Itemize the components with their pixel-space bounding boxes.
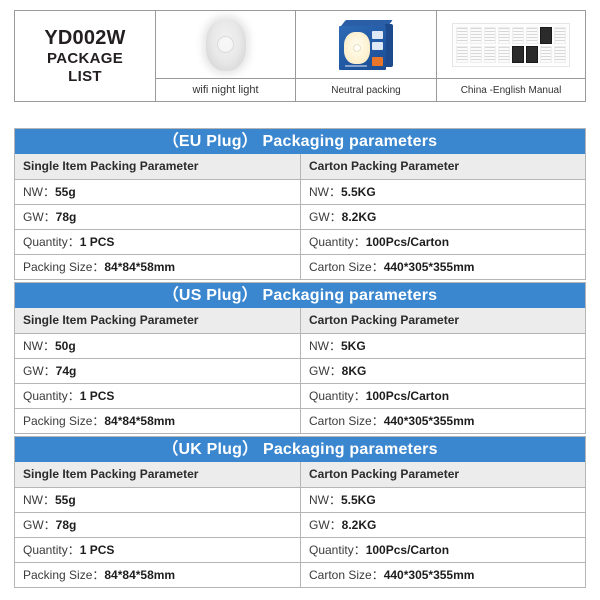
manual-panel: [470, 46, 482, 63]
value-quantity: 1 PCS: [80, 235, 115, 249]
cell-single-gw: GW：74g: [15, 359, 301, 383]
manual-panel: [456, 27, 468, 44]
night-light-ring-icon: [217, 36, 234, 53]
label-gw: GW：: [23, 364, 56, 378]
package-label-line2: LIST: [68, 68, 102, 86]
package-list-header-table: YD002W PACKAGE LIST wifi night light: [14, 10, 586, 102]
label-carton-size: Carton Size：: [309, 260, 384, 274]
cell-single-gw: GW：78g: [15, 205, 301, 229]
manual-panel: [456, 46, 468, 63]
table-row: Packing Size：84*84*58mm Carton Size：440*…: [15, 562, 585, 587]
retail-box-front-face: [339, 26, 386, 70]
value-carton-size: 440*305*355mm: [384, 260, 475, 274]
label-gw: GW：: [23, 518, 56, 532]
label-packing-size: Packing Size：: [23, 568, 104, 582]
cell-carton-size: Carton Size：440*305*355mm: [301, 409, 585, 433]
table-title-eu: （EU Plug） Packaging parameters: [15, 129, 585, 154]
manual-panel: [470, 27, 482, 44]
cell-single-gw: GW：78g: [15, 513, 301, 537]
table-row: NW：55g NW：5.5KG: [15, 179, 585, 204]
manual-device-thumb: [540, 27, 552, 44]
value-carton-quantity: 100Pcs/Carton: [366, 389, 449, 403]
package-list-title-cell: YD002W PACKAGE LIST: [15, 11, 155, 101]
manual-sheet-icon: [452, 23, 570, 67]
value-carton-gw: 8.2KG: [342, 518, 377, 532]
packaging-parameters-table-uk: （UK Plug） Packaging parameters Single It…: [14, 436, 586, 588]
package-item-neutral-packing: Neutral packing: [295, 11, 436, 101]
package-list-title-column: YD002W PACKAGE LIST: [15, 11, 155, 101]
label-nw: NW：: [23, 339, 55, 353]
retail-box-side-face: [385, 24, 393, 67]
cell-packing-size: Packing Size：84*84*58mm: [15, 409, 301, 433]
column-header-carton: Carton Packing Parameter: [301, 154, 585, 179]
value-nw: 55g: [55, 185, 76, 199]
cell-carton-quantity: Quantity：100Pcs/Carton: [301, 230, 585, 254]
table-row: GW：78g GW：8.2KG: [15, 204, 585, 229]
retail-box-text-line: [345, 65, 367, 67]
value-gw: 78g: [56, 210, 77, 224]
table-row: GW：74g GW：8KG: [15, 358, 585, 383]
table-row: Quantity：1 PCS Quantity：100Pcs/Carton: [15, 383, 585, 408]
cell-single-nw: NW：50g: [15, 334, 301, 358]
column-header-single-item: Single Item Packing Parameter: [15, 462, 301, 487]
manual-panel: [484, 46, 496, 63]
label-packing-size: Packing Size：: [23, 414, 104, 428]
label-carton-nw: NW：: [309, 493, 341, 507]
retail-box-badge-2: [372, 42, 383, 50]
manual-panel: [512, 27, 524, 44]
cell-carton-nw: NW：5.5KG: [301, 180, 585, 204]
label-carton-quantity: Quantity：: [309, 389, 366, 403]
retail-box-logo-icon: [372, 57, 383, 66]
cell-packing-size: Packing Size：84*84*58mm: [15, 563, 301, 587]
label-carton-nw: NW：: [309, 339, 341, 353]
label-quantity: Quantity：: [23, 543, 80, 557]
table-row: GW：78g GW：8.2KG: [15, 512, 585, 537]
table-row: Packing Size：84*84*58mm Carton Size：440*…: [15, 408, 585, 433]
cell-single-quantity: Quantity：1 PCS: [15, 538, 301, 562]
value-quantity: 1 PCS: [80, 543, 115, 557]
value-packing-size: 84*84*58mm: [104, 414, 175, 428]
label-carton-nw: NW：: [309, 185, 341, 199]
value-packing-size: 84*84*58mm: [104, 260, 175, 274]
value-carton-gw: 8.2KG: [342, 210, 377, 224]
value-carton-size: 440*305*355mm: [384, 414, 475, 428]
cell-carton-nw: NW：5KG: [301, 334, 585, 358]
value-nw: 55g: [55, 493, 76, 507]
label-carton-quantity: Quantity：: [309, 235, 366, 249]
label-packing-size: Packing Size：: [23, 260, 104, 274]
night-light-image: [156, 11, 295, 78]
cell-single-nw: NW：55g: [15, 180, 301, 204]
column-header-carton: Carton Packing Parameter: [301, 462, 585, 487]
packaging-parameters-table-us: （US Plug） Packaging parameters Single It…: [14, 282, 586, 434]
retail-box-icon: [339, 20, 393, 70]
table-title-us: （US Plug） Packaging parameters: [15, 283, 585, 308]
manual-panel: [540, 46, 552, 63]
manual-device-thumb: [512, 46, 524, 63]
column-header-carton: Carton Packing Parameter: [301, 308, 585, 333]
cell-carton-quantity: Quantity：100Pcs/Carton: [301, 538, 585, 562]
cell-single-nw: NW：55g: [15, 488, 301, 512]
package-item-night-light: wifi night light: [155, 11, 295, 101]
night-light-body-icon: [206, 19, 246, 71]
cell-carton-size: Carton Size：440*305*355mm: [301, 563, 585, 587]
retail-box-badge-1: [372, 31, 383, 39]
label-carton-size: Carton Size：: [309, 414, 384, 428]
packaging-parameters-table-eu: （EU Plug） Packaging parameters Single It…: [14, 128, 586, 280]
label-carton-gw: GW：: [309, 364, 342, 378]
package-item-manual: China -English Manual: [436, 11, 585, 101]
value-nw: 50g: [55, 339, 76, 353]
manual-panel: [526, 27, 538, 44]
label-gw: GW：: [23, 210, 56, 224]
table-header-row: Single Item Packing Parameter Carton Pac…: [15, 154, 585, 179]
value-quantity: 1 PCS: [80, 389, 115, 403]
label-nw: NW：: [23, 493, 55, 507]
label-carton-size: Carton Size：: [309, 568, 384, 582]
cell-single-quantity: Quantity：1 PCS: [15, 384, 301, 408]
label-carton-gw: GW：: [309, 518, 342, 532]
label-quantity: Quantity：: [23, 389, 80, 403]
table-row: Packing Size：84*84*58mm Carton Size：440*…: [15, 254, 585, 279]
manual-caption: China -English Manual: [437, 78, 585, 101]
package-label-line1: PACKAGE: [47, 50, 123, 68]
cell-carton-quantity: Quantity：100Pcs/Carton: [301, 384, 585, 408]
cell-carton-nw: NW：5.5KG: [301, 488, 585, 512]
cell-single-quantity: Quantity：1 PCS: [15, 230, 301, 254]
table-row: Quantity：1 PCS Quantity：100Pcs/Carton: [15, 537, 585, 562]
manual-panel: [498, 46, 510, 63]
value-packing-size: 84*84*58mm: [104, 568, 175, 582]
column-header-single-item: Single Item Packing Parameter: [15, 154, 301, 179]
value-gw: 74g: [56, 364, 77, 378]
model-number: YD002W: [44, 27, 125, 50]
table-header-row: Single Item Packing Parameter Carton Pac…: [15, 308, 585, 333]
table-row: NW：50g NW：5KG: [15, 333, 585, 358]
manual-panel: [484, 27, 496, 44]
value-gw: 78g: [56, 518, 77, 532]
label-nw: NW：: [23, 185, 55, 199]
cell-packing-size: Packing Size：84*84*58mm: [15, 255, 301, 279]
value-carton-nw: 5KG: [341, 339, 366, 353]
manual-device-thumb: [526, 46, 538, 63]
manual-panel: [554, 46, 566, 63]
manual-image: [437, 11, 585, 78]
value-carton-gw: 8KG: [342, 364, 367, 378]
label-quantity: Quantity：: [23, 235, 80, 249]
table-row: Quantity：1 PCS Quantity：100Pcs/Carton: [15, 229, 585, 254]
manual-panel: [554, 27, 566, 44]
cell-carton-size: Carton Size：440*305*355mm: [301, 255, 585, 279]
table-row: NW：55g NW：5.5KG: [15, 487, 585, 512]
value-carton-size: 440*305*355mm: [384, 568, 475, 582]
manual-panel: [498, 27, 510, 44]
cell-carton-gw: GW：8KG: [301, 359, 585, 383]
value-carton-quantity: 100Pcs/Carton: [366, 235, 449, 249]
label-carton-gw: GW：: [309, 210, 342, 224]
label-carton-quantity: Quantity：: [309, 543, 366, 557]
column-header-single-item: Single Item Packing Parameter: [15, 308, 301, 333]
neutral-packing-caption: Neutral packing: [296, 78, 436, 101]
value-carton-nw: 5.5KG: [341, 493, 376, 507]
table-title-uk: （UK Plug） Packaging parameters: [15, 437, 585, 462]
value-carton-nw: 5.5KG: [341, 185, 376, 199]
cell-carton-gw: GW：8.2KG: [301, 513, 585, 537]
retail-box-light-graphic: [344, 32, 370, 64]
table-header-row: Single Item Packing Parameter Carton Pac…: [15, 462, 585, 487]
value-carton-quantity: 100Pcs/Carton: [366, 543, 449, 557]
retail-box-image: [296, 11, 436, 78]
cell-carton-gw: GW：8.2KG: [301, 205, 585, 229]
night-light-caption: wifi night light: [156, 78, 295, 101]
